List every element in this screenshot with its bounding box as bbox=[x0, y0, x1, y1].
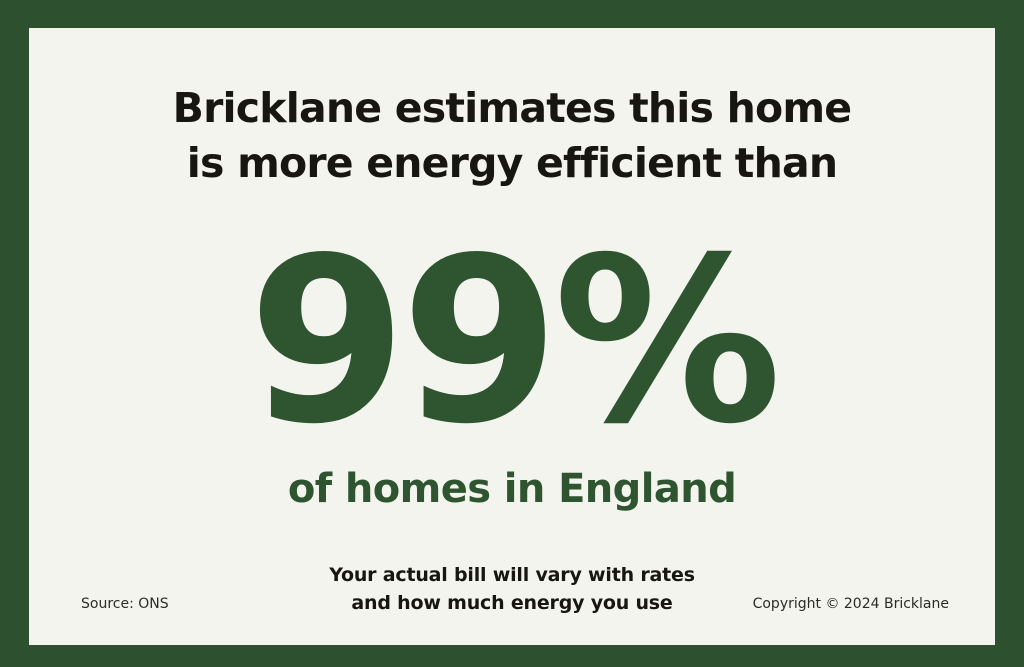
footer-disclaimer-line-1: Your actual bill will vary with rates bbox=[29, 561, 995, 589]
headline: Bricklane estimates this home is more en… bbox=[29, 81, 995, 191]
stat-block: 99% bbox=[29, 241, 995, 441]
headline-line-2: is more energy efficient than bbox=[29, 136, 995, 191]
footer-copyright: Copyright © 2024 Bricklane bbox=[753, 595, 949, 613]
infographic-card: Bricklane estimates this home is more en… bbox=[29, 28, 995, 645]
footer: Source: ONS Your actual bill will vary w… bbox=[29, 547, 995, 619]
stat-value: 99% bbox=[248, 241, 776, 441]
stat-caption: of homes in England bbox=[29, 465, 995, 513]
headline-line-1: Bricklane estimates this home bbox=[29, 81, 995, 136]
infographic-poster: Bricklane estimates this home is more en… bbox=[0, 0, 1024, 667]
